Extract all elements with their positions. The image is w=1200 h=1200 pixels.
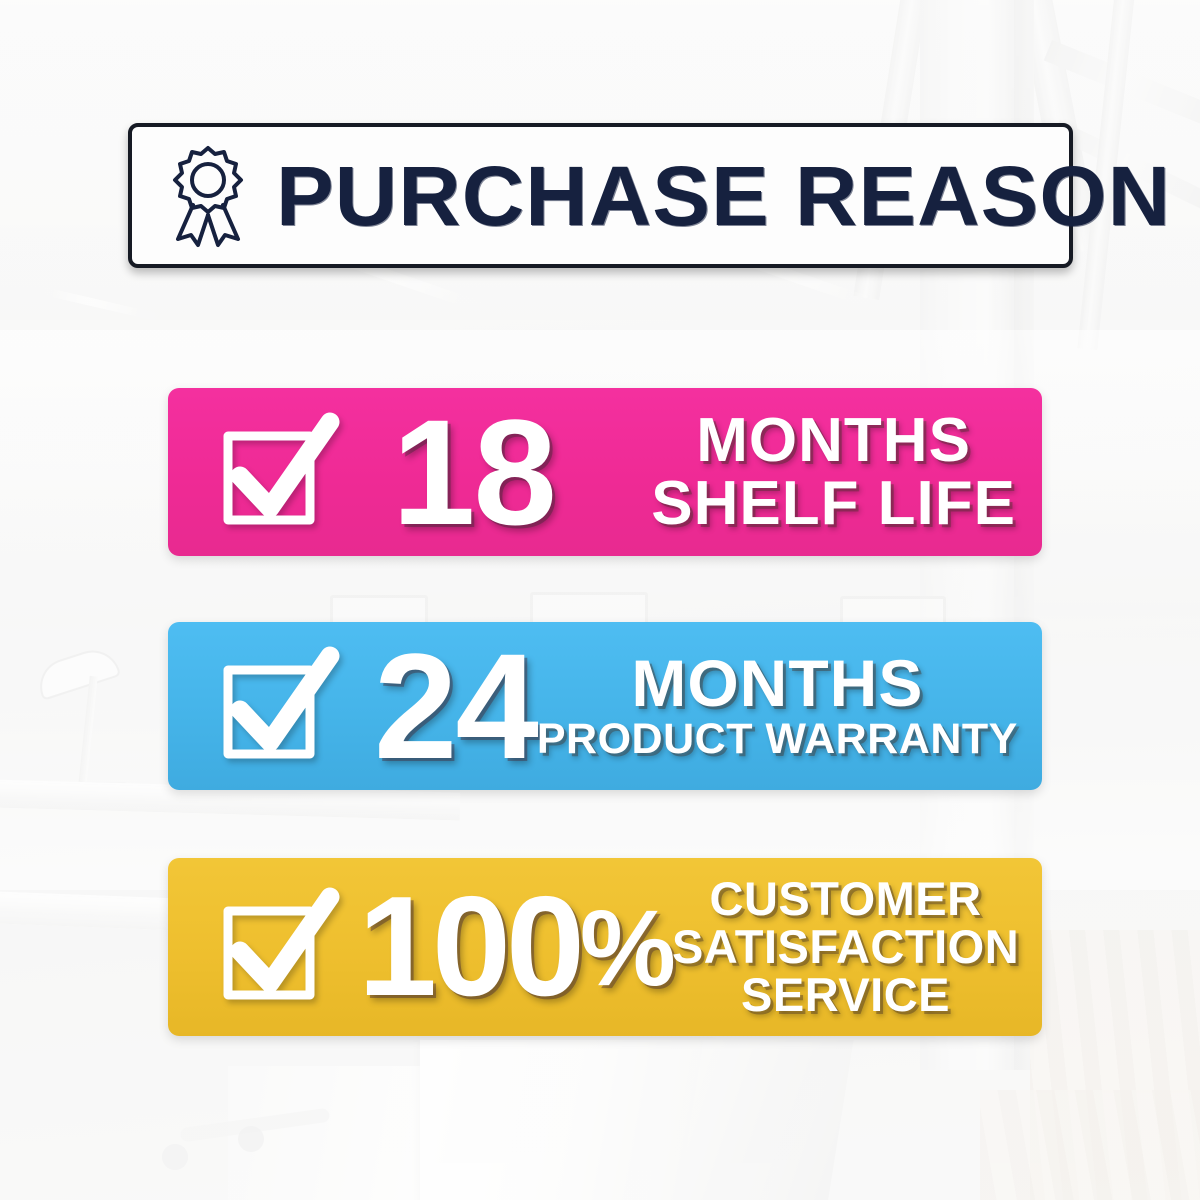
feature-bar-shelf-life[interactable]: 18 MONTHS SHELF LIFE bbox=[168, 388, 1042, 556]
percent-symbol: % bbox=[580, 887, 672, 1008]
feature-bar-product-warranty[interactable]: 24 MONTHS PRODUCT WARRANTY bbox=[168, 622, 1042, 790]
value-number: 100 bbox=[358, 867, 580, 1026]
checkbox-check-icon bbox=[206, 877, 346, 1017]
feature-value-customer-satisfaction: 100% bbox=[358, 882, 672, 1013]
caption-line-2: PRODUCT WARRANTY bbox=[537, 718, 1018, 762]
header-plate: PURCHASE REASON bbox=[128, 123, 1073, 268]
caption-line-3: SERVICE bbox=[672, 971, 1019, 1019]
feature-caption-shelf-life: MONTHS SHELF LIFE bbox=[651, 409, 1016, 535]
caption-line-1: MONTHS bbox=[651, 409, 1016, 472]
caption-line-1: CUSTOMER bbox=[672, 875, 1019, 923]
award-ribbon-icon bbox=[162, 143, 254, 249]
feature-value-product-warranty: 24 bbox=[374, 637, 537, 775]
infographic-canvas: PURCHASE REASON 18 MONTHS SHELF LIFE 24 … bbox=[0, 0, 1200, 1200]
caption-line-2: SHELF LIFE bbox=[651, 472, 1016, 535]
feature-value-shelf-life: 18 bbox=[392, 403, 555, 541]
feature-caption-customer-satisfaction: CUSTOMER SATISFACTION SERVICE bbox=[672, 875, 1019, 1019]
feature-bar-customer-satisfaction[interactable]: 100% CUSTOMER SATISFACTION SERVICE bbox=[168, 858, 1042, 1036]
page-title: PURCHASE REASON bbox=[276, 154, 1171, 238]
caption-line-2: SATISFACTION bbox=[672, 923, 1019, 971]
feature-caption-product-warranty: MONTHS PRODUCT WARRANTY bbox=[537, 650, 1018, 761]
caption-line-1: MONTHS bbox=[537, 650, 1018, 717]
checkbox-check-icon bbox=[206, 402, 346, 542]
checkbox-check-icon bbox=[206, 636, 346, 776]
